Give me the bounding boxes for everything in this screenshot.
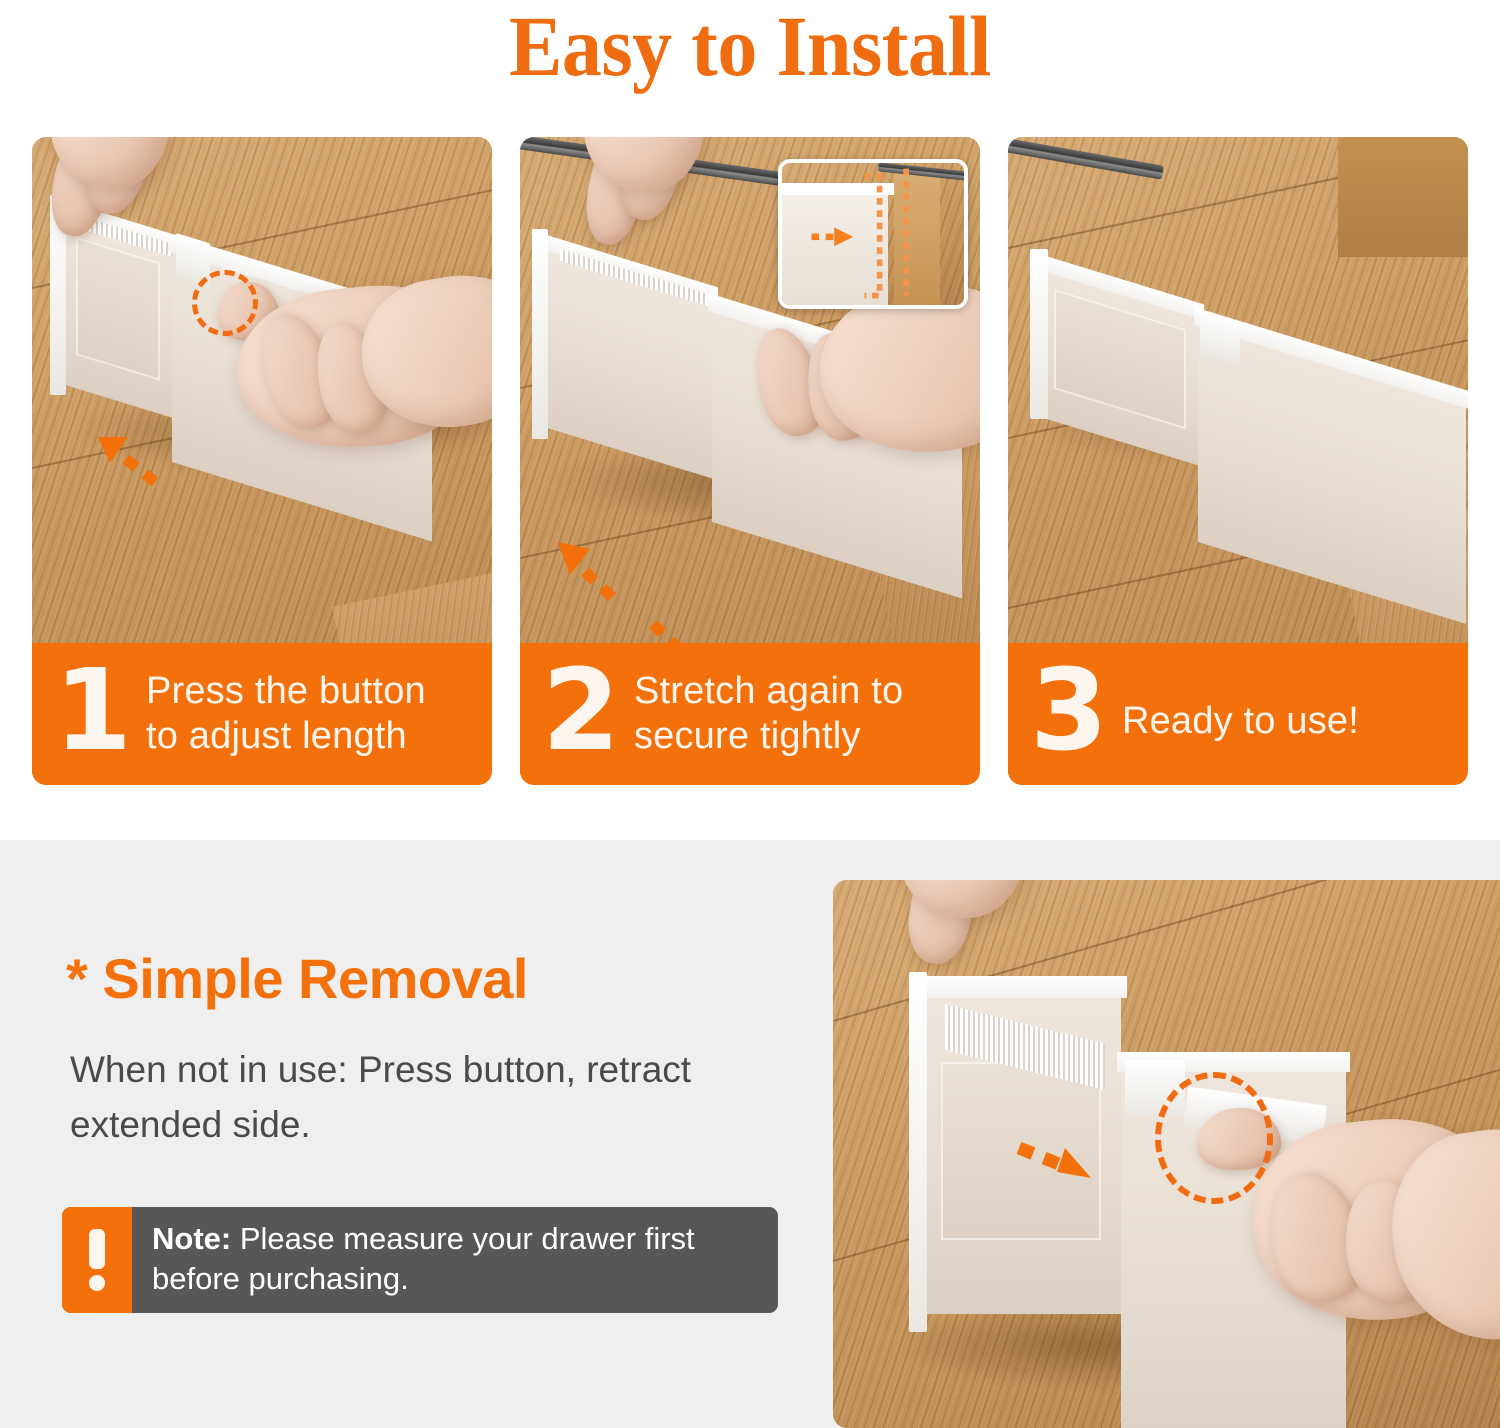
step-panel-3: 3 Ready to use! bbox=[1008, 137, 1468, 785]
divider-left-inner bbox=[941, 1062, 1101, 1240]
exclamation-icon bbox=[89, 1229, 105, 1291]
note-label: Note: bbox=[152, 1221, 231, 1256]
step-3-caption: 3 Ready to use! bbox=[1008, 643, 1468, 785]
step-1-line-1: Press the button bbox=[146, 669, 426, 714]
note-badge bbox=[62, 1207, 132, 1313]
step-2-text: Stretch again to secure tightly bbox=[634, 669, 903, 759]
divider-left-end-cap bbox=[909, 972, 927, 1332]
step-3-line-1: Ready to use! bbox=[1122, 699, 1359, 744]
divider-left-end-cap bbox=[1030, 249, 1048, 419]
step-2-line-1: Stretch again to bbox=[634, 669, 903, 714]
inset-divider-top bbox=[778, 183, 894, 195]
simple-removal-photo bbox=[833, 880, 1500, 1428]
note-banner: Note: Please measure your drawer first b… bbox=[62, 1207, 778, 1313]
step-3-number: 3 bbox=[1030, 661, 1106, 761]
divider-left-end-cap bbox=[532, 229, 548, 439]
simple-removal-body: When not in use: Press button, retract e… bbox=[70, 1042, 800, 1152]
inset-detail-card bbox=[778, 159, 968, 309]
step-1-caption: 1 Press the button to adjust length bbox=[32, 643, 492, 785]
step-1-text: Press the button to adjust length bbox=[146, 669, 426, 759]
drawer-corner bbox=[1338, 137, 1468, 257]
step-panel-1: 1 Press the button to adjust length bbox=[32, 137, 492, 785]
step-1-line-2: to adjust length bbox=[146, 714, 426, 759]
simple-removal-heading: * Simple Removal bbox=[66, 946, 528, 1012]
step-2-number: 2 bbox=[542, 661, 618, 761]
note-text: Note: Please measure your drawer first b… bbox=[132, 1207, 778, 1313]
step-2-line-2: secure tightly bbox=[634, 714, 903, 759]
divider-left-inner bbox=[76, 237, 160, 381]
infographic-root: Easy to Install bbox=[0, 0, 1500, 1428]
divider-left-top bbox=[915, 976, 1127, 998]
inset-drawer-wall bbox=[894, 169, 940, 309]
step-1-number: 1 bbox=[54, 661, 130, 761]
dashed-circle-button-icon bbox=[192, 270, 258, 336]
page-title: Easy to Install bbox=[53, 0, 1448, 94]
step-panel-2: 2 Stretch again to secure tightly bbox=[520, 137, 980, 785]
step-2-caption: 2 Stretch again to secure tightly bbox=[520, 643, 980, 785]
dashed-circle-button-icon bbox=[1155, 1072, 1273, 1204]
note-message: Please measure your drawer first before … bbox=[152, 1221, 695, 1296]
inset-divider-end bbox=[778, 191, 888, 309]
step-3-text: Ready to use! bbox=[1122, 699, 1359, 744]
